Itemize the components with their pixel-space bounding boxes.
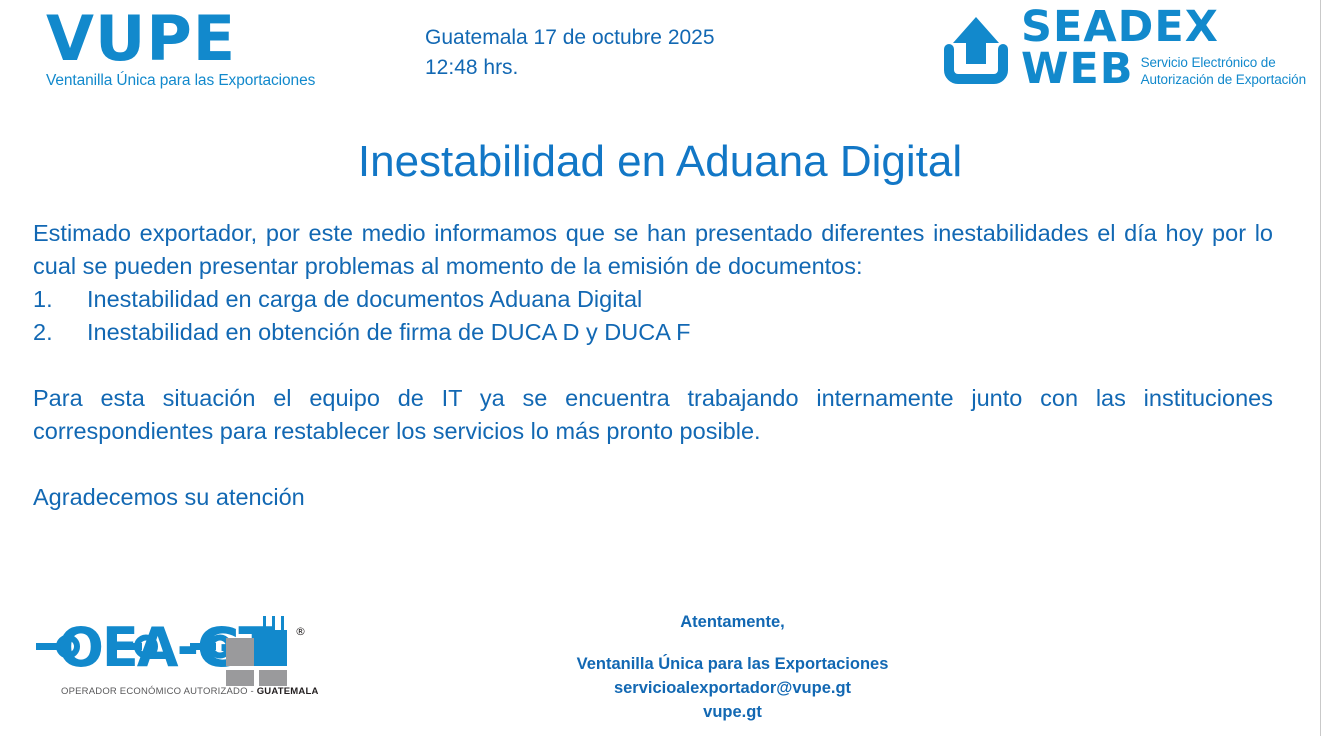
oea-gt-logo: OEA-GT ® OPERADOR ECONÓMICO AUTORIZADO -… [30, 608, 315, 708]
page-title: Inestabilidad en Aduana Digital [0, 134, 1320, 190]
vupe-logo: VUPE Ventanilla Única para las Exportaci… [46, 8, 346, 90]
list-item-number: 2. [33, 316, 87, 349]
header-time-line: 12:48 hrs. [425, 53, 715, 83]
signature-spacer [505, 634, 960, 652]
list-item-number: 1. [33, 283, 87, 316]
issues-list: 1. Inestabilidad en carga de documentos … [33, 283, 1273, 349]
oea-gt-caption-prefix: OPERADOR ECONÓMICO AUTORIZADO - [61, 686, 257, 697]
registered-mark-icon: ® [295, 625, 306, 638]
signature-website[interactable]: vupe.gt [505, 700, 960, 724]
seadex-wordmark-block: SEADEX WEB Servicio Electrónico de Autor… [1021, 6, 1306, 90]
oea-gt-emblem: OEA-GT ® [30, 608, 315, 686]
seadex-web-logo: SEADEX WEB Servicio Electrónico de Autor… [939, 6, 1306, 91]
seadex-wordmark: SEADEX [1021, 6, 1306, 48]
oea-gt-caption: OPERADOR ECONÓMICO AUTORIZADO - GUATEMAL… [61, 686, 319, 697]
seadex-subtitle-line-1: Servicio Electrónico de [1141, 54, 1306, 71]
seadex-web-wordmark: WEB [1021, 48, 1134, 90]
signature-email[interactable]: servicioalexportador@vupe.gt [505, 676, 960, 700]
body-spacer [33, 349, 1273, 382]
seadex-second-row: WEB Servicio Electrónico de Autorización… [1021, 48, 1306, 90]
body-paragraph-2: Para esta situación el equipo de IT ya s… [33, 382, 1273, 448]
list-item: 2. Inestabilidad en obtención de firma d… [33, 316, 1273, 349]
notice-body: Estimado exportador, por este medio info… [33, 217, 1273, 514]
upload-icon [939, 12, 1013, 91]
body-paragraph-3: Agradecemos su atención [33, 481, 1273, 514]
notice-slide: VUPE Ventanilla Única para las Exportaci… [0, 0, 1321, 736]
header-date-line: Guatemala 17 de octubre 2025 [425, 23, 715, 53]
body-paragraph-1: Estimado exportador, por este medio info… [33, 217, 1273, 283]
seadex-subtitle-line-2: Autorización de Exportación [1141, 71, 1306, 88]
signature-closing: Atentamente, [505, 610, 960, 634]
list-item-label: Inestabilidad en carga de documentos Adu… [87, 283, 642, 316]
signature-organization: Ventanilla Única para las Exportaciones [505, 652, 960, 676]
oea-gt-caption-country: GUATEMALA [257, 686, 319, 697]
seadex-subtitle: Servicio Electrónico de Autorización de … [1141, 54, 1306, 90]
body-spacer [33, 448, 1273, 481]
signature-block: Atentamente, Ventanilla Única para las E… [505, 610, 960, 724]
vupe-tagline: Ventanilla Única para las Exportaciones [46, 72, 346, 90]
header-datetime: Guatemala 17 de octubre 2025 12:48 hrs. [425, 23, 715, 83]
vupe-wordmark: VUPE [46, 8, 346, 70]
list-item: 1. Inestabilidad en carga de documentos … [33, 283, 1273, 316]
list-item-label: Inestabilidad en obtención de firma de D… [87, 316, 690, 349]
